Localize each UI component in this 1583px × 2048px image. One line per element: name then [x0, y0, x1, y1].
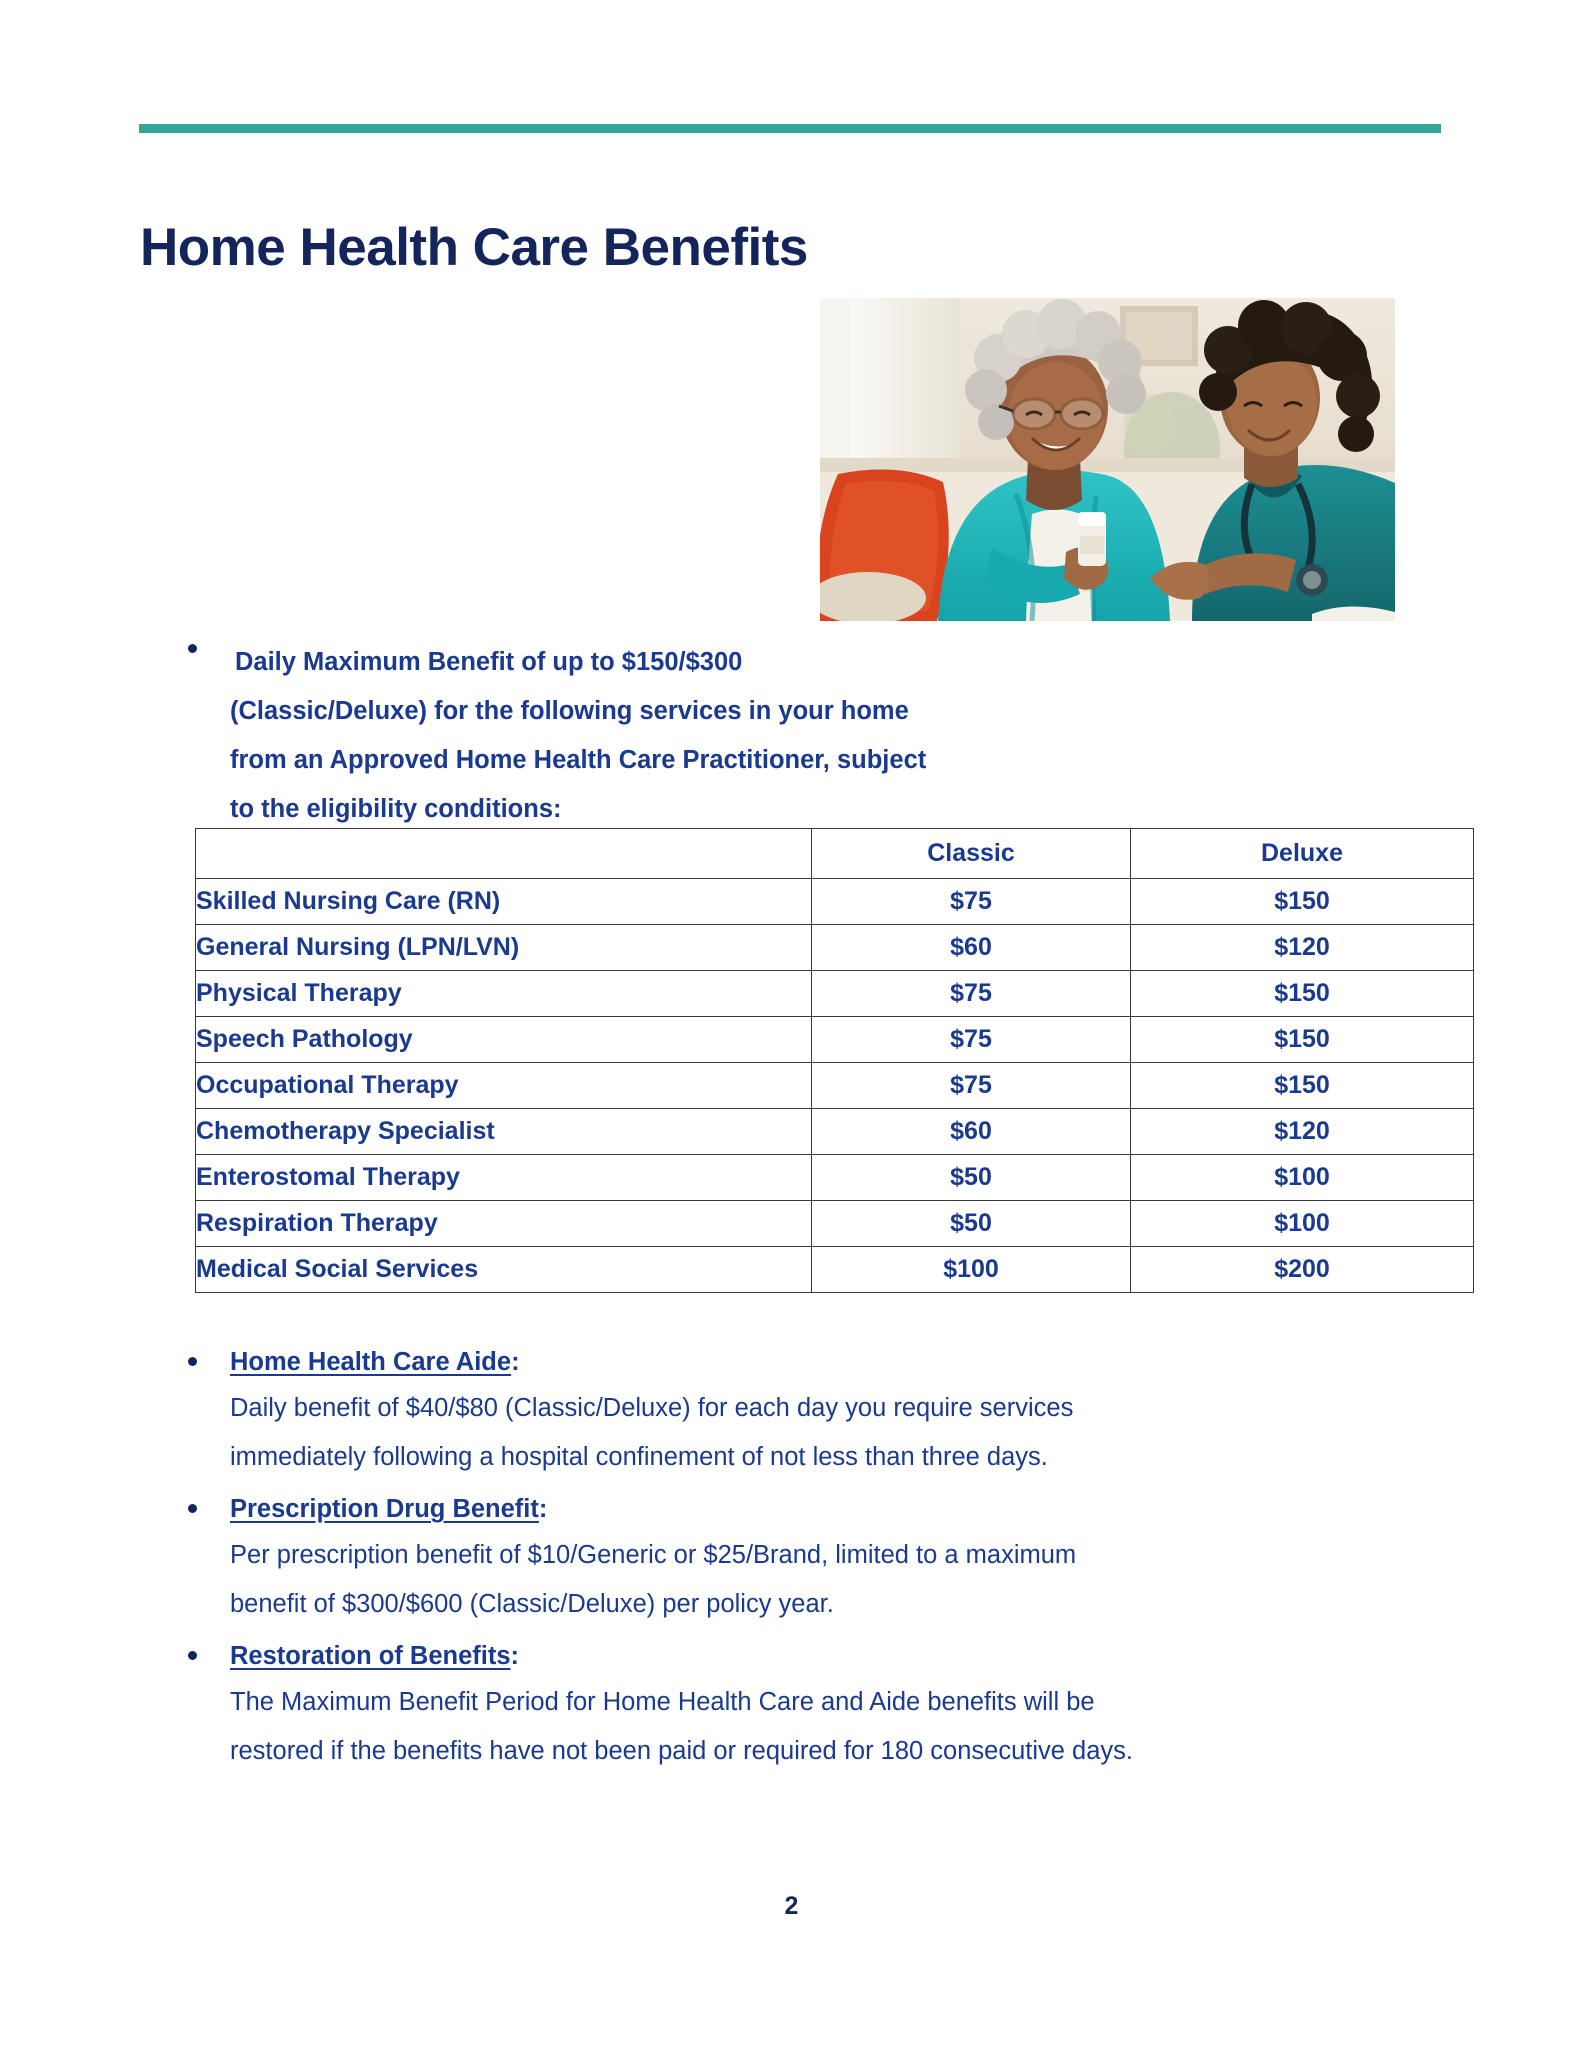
cell-classic: $75	[812, 1063, 1131, 1109]
column-header-deluxe: Deluxe	[1131, 829, 1474, 879]
list-item: Home Health Care Aide: Daily benefit of …	[188, 1340, 1448, 1482]
cell-deluxe: $100	[1131, 1201, 1474, 1247]
cell-service: Occupational Therapy	[196, 1063, 812, 1109]
cell-service: Chemotherapy Specialist	[196, 1109, 812, 1155]
cell-deluxe: $100	[1131, 1155, 1474, 1201]
cell-service: Skilled Nursing Care (RN)	[196, 879, 812, 925]
benefit-details-list: Home Health Care Aide: Daily benefit of …	[188, 1340, 1448, 1781]
list-item: Prescription Drug Benefit: Per prescript…	[188, 1487, 1448, 1629]
detail-line: immediately following a hospital confine…	[230, 1433, 1448, 1482]
lead-bullet-item: Daily Maximum Benefit of up to $150/$300…	[188, 638, 928, 834]
bullet-dot-icon	[188, 1357, 197, 1366]
detail-heading: Prescription Drug Benefit:	[230, 1487, 1448, 1531]
detail-heading-colon: :	[511, 1642, 520, 1670]
benefits-table-head: Classic Deluxe	[196, 829, 1474, 879]
cell-deluxe: $120	[1131, 925, 1474, 971]
lead-line-1: Daily Maximum Benefit of up to $150/$300	[230, 638, 928, 687]
cell-classic: $75	[812, 879, 1131, 925]
cell-deluxe: $150	[1131, 1017, 1474, 1063]
detail-body: Restoration of Benefits: The Maximum Ben…	[230, 1634, 1448, 1776]
lead-line-2: (Classic/Deluxe) for the following servi…	[230, 697, 834, 725]
detail-heading-label: Restoration of Benefits	[230, 1642, 511, 1670]
column-header-service	[196, 829, 812, 879]
page-title: Home Health Care Benefits	[140, 221, 808, 274]
detail-line: Daily benefit of $40/$80 (Classic/Deluxe…	[230, 1384, 1448, 1433]
detail-line: benefit of $300/$600 (Classic/Deluxe) pe…	[230, 1580, 1448, 1629]
cell-deluxe: $200	[1131, 1247, 1474, 1293]
bullet-dot-icon	[188, 1504, 197, 1513]
benefits-table: Classic Deluxe Skilled Nursing Care (RN)…	[195, 828, 1474, 1293]
detail-text: The Maximum Benefit Period for Home Heal…	[230, 1678, 1448, 1776]
detail-text: Daily benefit of $40/$80 (Classic/Deluxe…	[230, 1384, 1448, 1482]
cell-service: Respiration Therapy	[196, 1201, 812, 1247]
table-row: Occupational Therapy $75 $150	[196, 1063, 1474, 1109]
table-header-row: Classic Deluxe	[196, 829, 1474, 879]
detail-heading-label: Prescription Drug Benefit	[230, 1495, 539, 1523]
cell-classic: $75	[812, 1017, 1131, 1063]
cell-service: Enterostomal Therapy	[196, 1155, 812, 1201]
photo-illustration	[820, 298, 1395, 621]
detail-text: Per prescription benefit of $10/Generic …	[230, 1531, 1448, 1629]
lead-bullet-text: Daily Maximum Benefit of up to $150/$300…	[230, 638, 928, 834]
home-health-care-photo	[820, 298, 1395, 621]
cell-service: Speech Pathology	[196, 1017, 812, 1063]
bullet-dot-icon	[188, 644, 197, 653]
document-page: Home Health Care Benefits	[0, 0, 1583, 2048]
page-number: 2	[0, 1892, 1583, 1921]
detail-heading: Restoration of Benefits:	[230, 1634, 1448, 1678]
header-accent-rule	[139, 124, 1441, 133]
detail-body: Home Health Care Aide: Daily benefit of …	[230, 1340, 1448, 1482]
detail-line: restored if the benefits have not been p…	[230, 1727, 1448, 1776]
cell-classic: $50	[812, 1155, 1131, 1201]
cell-classic: $60	[812, 1109, 1131, 1155]
detail-heading: Home Health Care Aide:	[230, 1340, 1448, 1384]
cell-service: Medical Social Services	[196, 1247, 812, 1293]
cell-classic: $60	[812, 925, 1131, 971]
cell-deluxe: $150	[1131, 1063, 1474, 1109]
bullet-dot-icon	[188, 1651, 197, 1660]
cell-deluxe: $120	[1131, 1109, 1474, 1155]
detail-line: Per prescription benefit of $10/Generic …	[230, 1531, 1448, 1580]
cell-service: Physical Therapy	[196, 971, 812, 1017]
benefits-table-body: Skilled Nursing Care (RN) $75 $150 Gener…	[196, 879, 1474, 1293]
detail-heading-label: Home Health Care Aide	[230, 1348, 511, 1376]
table-row: General Nursing (LPN/LVN) $60 $120	[196, 925, 1474, 971]
table-row: Physical Therapy $75 $150	[196, 971, 1474, 1017]
table-row: Skilled Nursing Care (RN) $75 $150	[196, 879, 1474, 925]
detail-body: Prescription Drug Benefit: Per prescript…	[230, 1487, 1448, 1629]
cell-classic: $100	[812, 1247, 1131, 1293]
table-row: Chemotherapy Specialist $60 $120	[196, 1109, 1474, 1155]
table-row: Enterostomal Therapy $50 $100	[196, 1155, 1474, 1201]
table-row: Medical Social Services $100 $200	[196, 1247, 1474, 1293]
cell-deluxe: $150	[1131, 971, 1474, 1017]
detail-heading-colon: :	[539, 1495, 548, 1523]
cell-deluxe: $150	[1131, 879, 1474, 925]
cell-classic: $75	[812, 971, 1131, 1017]
table-row: Respiration Therapy $50 $100	[196, 1201, 1474, 1247]
detail-line: The Maximum Benefit Period for Home Heal…	[230, 1678, 1448, 1727]
cell-classic: $50	[812, 1201, 1131, 1247]
column-header-classic: Classic	[812, 829, 1131, 879]
detail-heading-colon: :	[511, 1348, 520, 1376]
table-row: Speech Pathology $75 $150	[196, 1017, 1474, 1063]
list-item: Restoration of Benefits: The Maximum Ben…	[188, 1634, 1448, 1776]
cell-service: General Nursing (LPN/LVN)	[196, 925, 812, 971]
